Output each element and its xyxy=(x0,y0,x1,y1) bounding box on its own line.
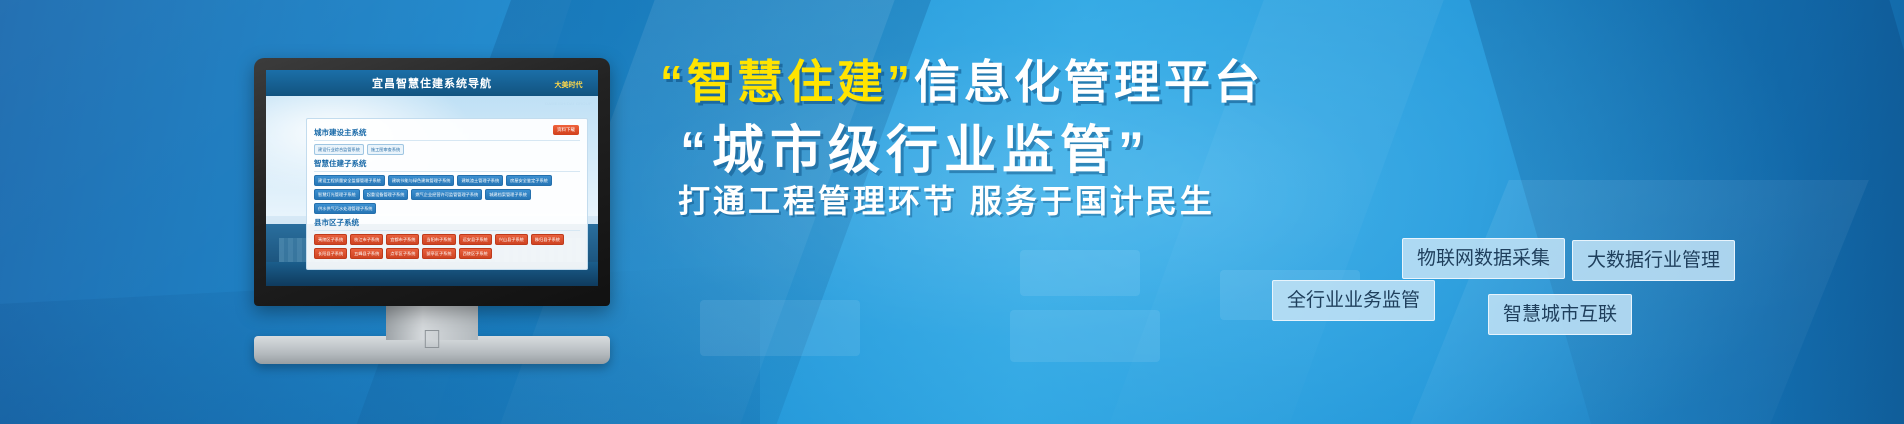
headline-line-2: “城市级行业监管” xyxy=(680,108,1150,183)
feature-tag-big-data[interactable]: 大数据行业管理 xyxy=(1572,240,1735,281)
screen-logo: 大美时代 DAMEISHIDAI GROUP xyxy=(545,74,592,110)
screen-nav-pill[interactable]: 建设行业综合监管系统 xyxy=(314,144,364,155)
screen-nav-pill[interactable]: 建筑渣土管理子系统 xyxy=(457,175,503,186)
screen-nav-pill[interactable]: 燃气企业经营许可监管管理子系统 xyxy=(411,189,482,200)
screen-nav-pill[interactable]: 当阳市子系统 xyxy=(422,234,455,245)
screen-logo-primary: 大美时代 xyxy=(555,82,583,89)
apple-logo-icon:  xyxy=(422,326,442,352)
screen-nav-pill[interactable]: 西陵区子系统 xyxy=(459,248,492,259)
feature-tag-industry-supervision[interactable]: 全行业业务监管 xyxy=(1272,280,1435,321)
feature-tag-iot-data[interactable]: 物联网数据采集 xyxy=(1402,238,1565,279)
screen-section-title: 县市区子系统 xyxy=(314,217,580,231)
screen-nav-pill[interactable]: 五峰县子系统 xyxy=(350,248,383,259)
monitor-screen: 宜昌智慧住建系统导航 大美时代 DAMEISHIDAI GROUP 资料下载 城… xyxy=(266,70,598,286)
screen-nav-pill[interactable]: 枝江市子系统 xyxy=(350,234,383,245)
screen-nav-pill[interactable]: 兴山县子系统 xyxy=(495,234,528,245)
screen-nav-pill[interactable]: 建设工程质量安全监督管理子系统 xyxy=(314,175,385,186)
screen-nav-pill[interactable]: 夷陵区子系统 xyxy=(314,234,347,245)
banner-copy: “智慧住建”信息化管理平台 “城市级行业监管” 打通工程管理环节 服务于国计民生… xyxy=(620,0,1904,424)
screen-nav-pill[interactable]: 宜都市子系统 xyxy=(386,234,419,245)
hero-banner:  宜昌智慧住建系统导航 大美时代 DAMEISHIDAI GROUP 资料下载… xyxy=(0,0,1904,424)
headline-line-3: 打通工程管理环节 服务于国计民生 xyxy=(678,176,1215,222)
screen-nav-pill[interactable]: 施工图审查系统 xyxy=(367,144,404,155)
headline-line-1: “智慧住建”信息化管理平台 xyxy=(660,46,1264,112)
screen-header-bar: 宜昌智慧住建系统导航 大美时代 DAMEISHIDAI GROUP xyxy=(266,70,598,96)
screen-nav-pill[interactable]: 智慧灯光管理子系统 xyxy=(314,189,360,200)
screen-section-items: 建设行业综合监管系统 施工图审查系统 xyxy=(314,144,580,155)
headline-rest: 信息化管理平台 xyxy=(914,56,1264,108)
screen-nav-pill[interactable]: 城建档案管理子系统 xyxy=(485,189,531,200)
screen-nav-pill[interactable]: 建筑节能与绿色建筑管理子系统 xyxy=(388,175,455,186)
screen-nav-pill[interactable]: 房屋安全鉴定子系统 xyxy=(506,175,552,186)
screen-section-items: 夷陵区子系统 枝江市子系统 宜都市子系统 当阳市子系统 远安县子系统 兴山县子系… xyxy=(314,234,580,259)
headline-quote-open: “ xyxy=(660,56,687,108)
screen-nav-pill[interactable]: 猇亭区子系统 xyxy=(422,248,455,259)
screen-download-button[interactable]: 资料下载 xyxy=(553,125,579,135)
screen-nav-pill[interactable]: 长阳县子系统 xyxy=(314,248,347,259)
screen-nav-pill[interactable]: 点军区子系统 xyxy=(386,248,419,259)
screen-nav-pill[interactable]: 远安县子系统 xyxy=(459,234,492,245)
headline-quote-close: ” xyxy=(887,56,914,108)
screen-nav-pill[interactable]: 供水供气污水处理管理子系统 xyxy=(314,203,376,214)
screen-header-title: 宜昌智慧住建系统导航 xyxy=(372,75,492,91)
monitor-bezel: 宜昌智慧住建系统导航 大美时代 DAMEISHIDAI GROUP 资料下载 城… xyxy=(254,58,610,306)
screen-section-items: 建设工程质量安全监督管理子系统 建筑节能与绿色建筑管理子系统 建筑渣土管理子系统… xyxy=(314,175,580,214)
screen-content-panel: 资料下载 城市建设主系统 建设行业综合监管系统 施工图审查系统 智慧住建子系统 … xyxy=(306,118,588,270)
imac-illustration:  宜昌智慧住建系统导航 大美时代 DAMEISHIDAI GROUP 资料下载… xyxy=(254,58,610,306)
headline-highlight: 智慧住建 xyxy=(687,56,887,108)
screen-nav-pill[interactable]: 起重设备管理子系统 xyxy=(363,189,409,200)
screen-nav-pill[interactable]: 秭归县子系统 xyxy=(531,234,564,245)
screen-logo-secondary: DAMEISHIDAI GROUP xyxy=(545,101,592,106)
feature-tag-smart-city[interactable]: 智慧城市互联 xyxy=(1488,294,1632,335)
screen-section-title: 城市建设主系统 xyxy=(314,127,580,141)
screen-section-title: 智慧住建子系统 xyxy=(314,158,580,172)
